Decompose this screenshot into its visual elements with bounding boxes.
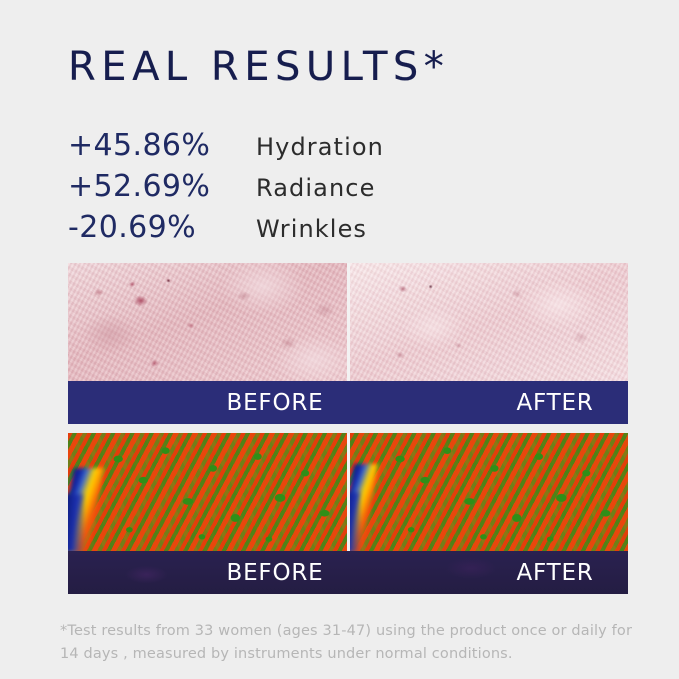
stat-label-radiance: Radiance bbox=[256, 174, 375, 202]
results-infographic: REAL RESULTS* +45.86% Hydration +52.69% … bbox=[0, 0, 679, 679]
results-stats-list: +45.86% Hydration +52.69% Radiance -20.6… bbox=[68, 128, 588, 251]
page-title: REAL RESULTS* bbox=[68, 47, 449, 87]
stat-label-wrinkles: Wrinkles bbox=[256, 215, 367, 243]
stat-row-wrinkles: -20.69% Wrinkles bbox=[68, 210, 588, 251]
stat-value-radiance: +52.69% bbox=[68, 169, 256, 204]
before-skin-macro-photo bbox=[68, 263, 347, 381]
skin-macro-before-label: BEFORE bbox=[227, 392, 324, 415]
stat-value-wrinkles: -20.69% bbox=[68, 210, 256, 245]
fluorescence-map-caption-band: BEFORE AFTER bbox=[68, 551, 628, 594]
stat-row-radiance: +52.69% Radiance bbox=[68, 169, 588, 210]
skin-macro-after-label: AFTER bbox=[516, 392, 593, 415]
comparison-block-skin-macro: BEFORE AFTER bbox=[68, 263, 628, 424]
stat-value-hydration: +45.86% bbox=[68, 128, 256, 163]
after-fluorescence-map bbox=[350, 433, 629, 551]
stat-label-hydration: Hydration bbox=[256, 133, 384, 161]
footnote-disclaimer: *Test results from 33 women (ages 31-47)… bbox=[60, 620, 640, 667]
skin-macro-panes bbox=[68, 263, 628, 381]
stat-row-hydration: +45.86% Hydration bbox=[68, 128, 588, 169]
fluorescence-map-panes bbox=[68, 433, 628, 551]
before-fluorescence-map bbox=[68, 433, 347, 551]
skin-macro-caption-band: BEFORE AFTER bbox=[68, 381, 628, 424]
fluorescence-map-after-label: AFTER bbox=[516, 562, 593, 585]
comparison-block-fluorescence-map: BEFORE AFTER bbox=[68, 433, 628, 594]
fluorescence-map-before-label: BEFORE bbox=[227, 562, 324, 585]
after-skin-macro-photo bbox=[350, 263, 629, 381]
